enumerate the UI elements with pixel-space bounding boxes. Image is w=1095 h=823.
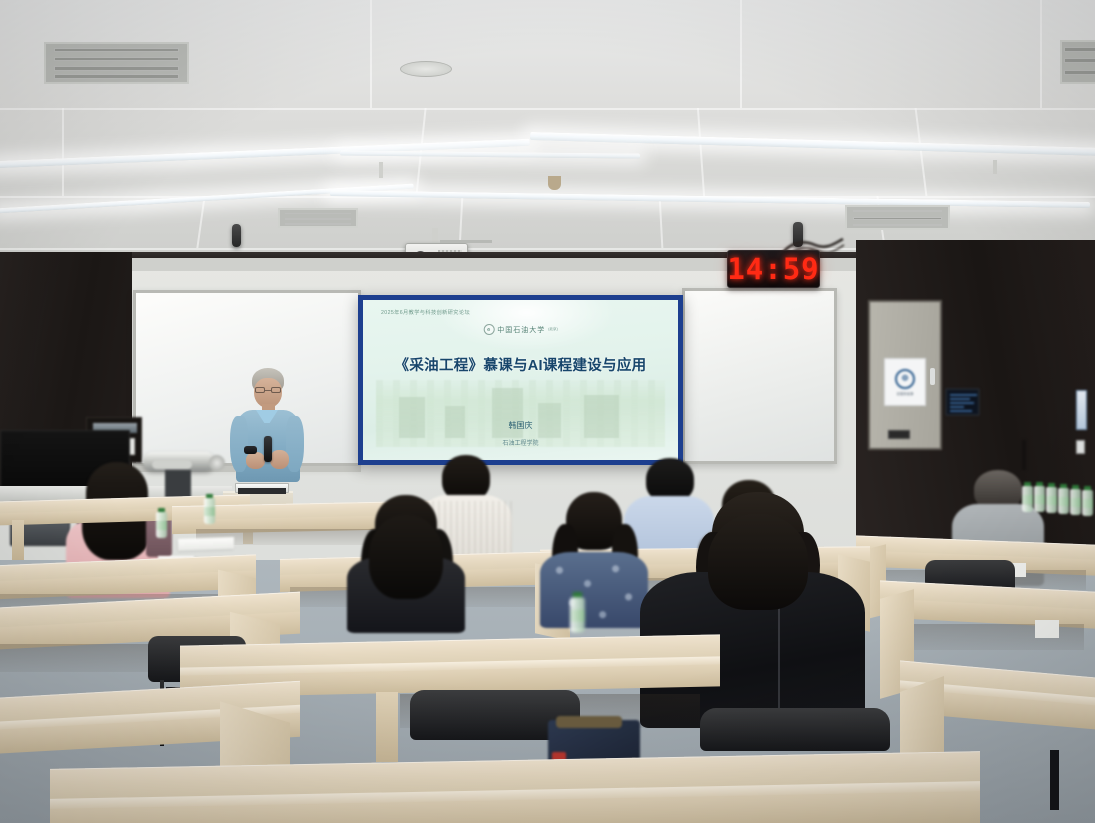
university-seal-icon: ⚙ [483,324,494,335]
air-vent [1060,40,1095,84]
air-vent [44,42,189,84]
air-vent [278,208,358,228]
floral-pattern [540,554,648,628]
door-kick-plate [888,430,910,439]
clock-time: 14:59 [727,252,819,286]
notebook [178,537,234,551]
light-switch[interactable] [1076,440,1085,454]
wristwatch [244,446,257,454]
smoke-detector [400,61,452,77]
wall-monitor[interactable] [945,388,980,416]
slide-presenter-name: 韩国庆 [363,420,678,431]
quiet-glyph: ☸ [901,373,909,384]
presenter-left-arm [230,416,248,472]
slide-department: 石油工程学院 [363,438,678,447]
microphone [264,436,272,462]
presenter-glasses [255,387,281,393]
led-wall-clock: 14:59 [727,250,820,288]
jacket-seam [778,596,780,716]
seal-glyph: ⚙ [487,327,491,332]
university-campus: (北京) [548,327,558,332]
whiteboard [682,288,837,464]
desk-panel-light [1035,620,1059,638]
projection-screen: 2025年6月教学与科技创新研究论坛 ⚙ 中国石油大学 (北京) 《采油工程》慕… [358,295,683,465]
presenter-right-arm [286,416,304,472]
university-name: 中国石油大学 [497,325,545,335]
presentation-slide: 2025年6月教学与科技创新研究论坛 ⚙ 中国石油大学 (北京) 《采油工程》慕… [363,300,678,460]
slide-title: 《采油工程》慕课与AI课程建设与应用 [363,354,678,375]
ceiling [0,0,1095,268]
projector-rail [440,240,492,243]
attendee-row2-left [345,495,467,630]
sprinkler-head [548,176,561,190]
linear-ceiling-light [340,150,640,158]
lecture-hall-photo: 2025年6月教学与科技创新研究论坛 ⚙ 中国石油大学 (北京) 《采油工程》慕… [0,0,1095,823]
presenter-right-hand [270,450,289,469]
ceiling-speaker [232,224,241,247]
door-notice-sign: ☸ 请保持安静 [884,358,926,406]
backpack-strap [556,716,622,728]
university-logo: ⚙ 中国石油大学 (北京) [483,324,558,335]
air-vent [845,205,950,230]
chair-leg-right [1050,750,1059,810]
wall-edge-sign [1076,390,1087,430]
attendee-row2-floral [540,492,648,624]
quiet-icon: ☸ [895,369,915,389]
presenter [218,368,314,493]
desk-row [50,760,980,823]
presenter-left-hand [246,452,265,469]
door-sign-caption: 请保持安静 [897,391,914,396]
linear-ceiling-light [330,190,1090,208]
wall-hook [1022,440,1026,470]
slide-header-text: 2025年6月教学与科技创新研究论坛 [381,309,470,316]
door-handle[interactable] [930,368,935,385]
